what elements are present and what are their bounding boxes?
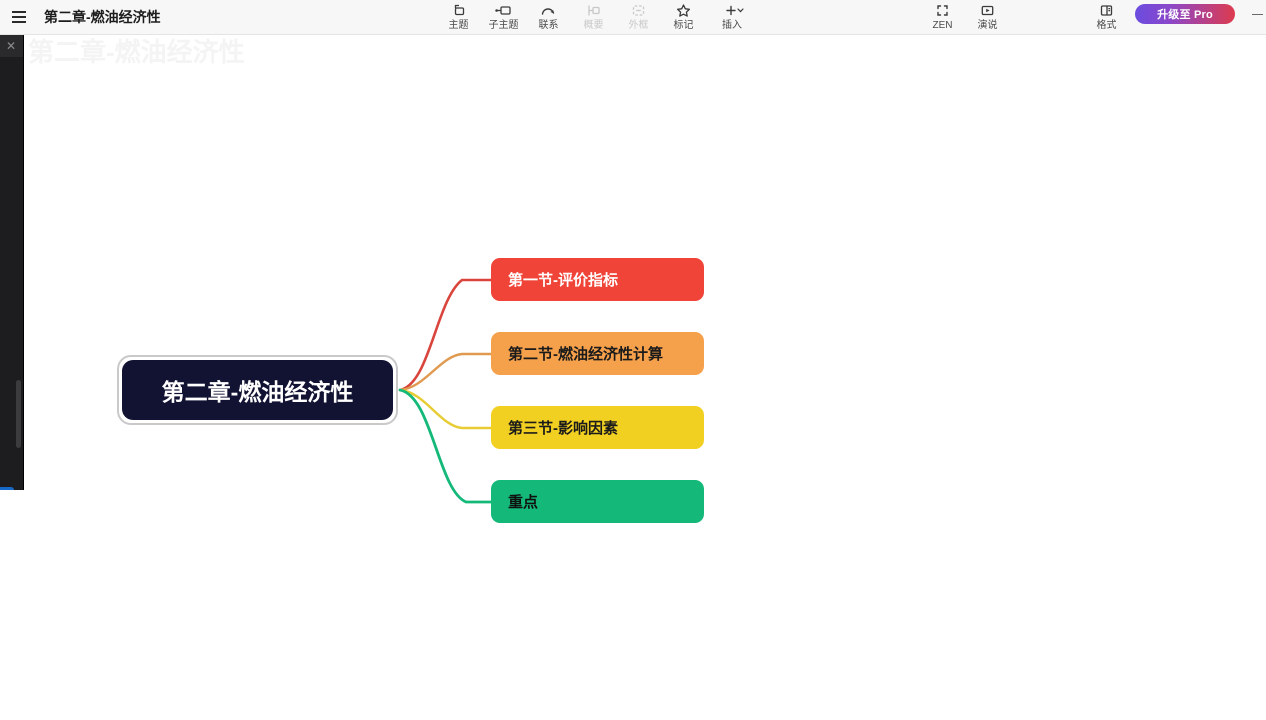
mindmap-node-3[interactable]: 第三节-影响因素	[491, 406, 704, 449]
frame-icon	[629, 2, 648, 19]
panel-scrollbar[interactable]	[16, 380, 21, 448]
hamburger-bar	[12, 16, 26, 18]
tool-format[interactable]: 格式	[1084, 0, 1129, 35]
toolbar-center: 主题 子主题 联系	[436, 0, 758, 35]
mindmap: 第二章-燃油经济性 第一节-评价指标 第二节-燃油经济性计算 第三节-影响因素 …	[24, 35, 1266, 720]
edge-to-child-2	[400, 354, 491, 390]
tool-frame-label: 外框	[629, 19, 649, 32]
tool-frame[interactable]: 外框	[616, 0, 661, 35]
hamburger-bar	[12, 21, 26, 23]
tool-insert-label: 插入	[722, 19, 742, 32]
hamburger-bar	[12, 11, 26, 13]
node-2-label: 第二节-燃油经济性计算	[491, 343, 663, 364]
upgrade-pro-button[interactable]: 升级至 Pro	[1135, 4, 1235, 24]
mindmap-node-1[interactable]: 第一节-评价指标	[491, 258, 704, 301]
root-node-label: 第二章-燃油经济性	[162, 373, 354, 407]
toolbar-right: ZEN 演说 格式	[920, 0, 1129, 35]
minimize-icon[interactable]	[1248, 0, 1266, 28]
hamburger-icon[interactable]	[4, 0, 34, 35]
tool-format-label: 格式	[1097, 19, 1117, 32]
star-icon	[675, 2, 692, 19]
document-title[interactable]: 第二章-燃油经济性	[44, 7, 161, 27]
tool-zen-label: ZEN	[933, 19, 953, 32]
edge-to-child-4	[400, 390, 491, 502]
close-icon[interactable]: ✕	[4, 39, 18, 53]
tool-subtopic-label: 子主题	[489, 19, 519, 32]
panel-action-button[interactable]	[0, 487, 14, 490]
subtopic-icon	[494, 2, 513, 19]
mindmap-node-4[interactable]: 重点	[491, 480, 704, 523]
app-header: 第二章-燃油经济性 主题 子主题	[0, 0, 1266, 35]
format-icon	[1098, 2, 1115, 19]
present-icon	[979, 2, 996, 19]
tool-summary-label: 概要	[584, 19, 604, 32]
tool-topic-label: 主题	[449, 19, 469, 32]
edge-to-child-3	[400, 390, 491, 428]
minimize-bar	[1252, 14, 1263, 15]
node-3-label: 第三节-影响因素	[491, 417, 618, 438]
plus-chevron-icon	[719, 2, 745, 19]
edge-to-child-1	[400, 280, 491, 390]
tool-mark[interactable]: 标记	[661, 0, 706, 35]
topic-icon	[450, 2, 467, 19]
mindmap-canvas[interactable]: 第二章-燃油经济性 第二章-燃油经济性 第一节-评价指标 第二节-燃油经济性计算…	[24, 35, 1266, 720]
mindmap-node-2[interactable]: 第二节-燃油经济性计算	[491, 332, 704, 375]
node-1-label: 第一节-评价指标	[491, 269, 618, 290]
zen-icon	[934, 2, 951, 19]
mindmap-root-node[interactable]: 第二章-燃油经济性	[122, 360, 393, 420]
tool-subtopic[interactable]: 子主题	[481, 0, 526, 35]
tool-present[interactable]: 演说	[965, 0, 1010, 35]
tool-present-label: 演说	[978, 19, 998, 32]
tool-topic[interactable]: 主题	[436, 0, 481, 35]
tool-relation-label: 联系	[539, 19, 559, 32]
tool-insert[interactable]: 插入	[706, 0, 758, 35]
summary-icon	[584, 2, 603, 19]
tool-zen[interactable]: ZEN	[920, 0, 965, 35]
relation-icon	[539, 2, 558, 19]
tool-relation[interactable]: 联系	[526, 0, 571, 35]
tool-mark-label: 标记	[674, 19, 694, 32]
tool-summary[interactable]: 概要	[571, 0, 616, 35]
node-4-label: 重点	[491, 491, 538, 512]
left-dark-panel: ✕	[0, 35, 24, 490]
